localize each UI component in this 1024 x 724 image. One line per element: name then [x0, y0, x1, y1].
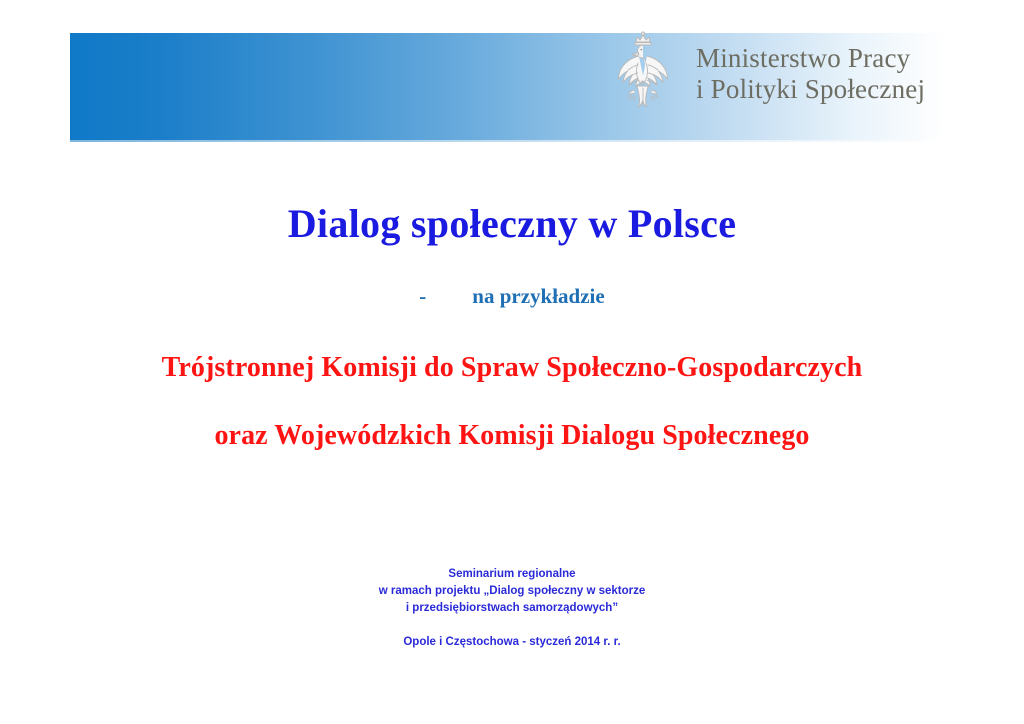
- slide-body: Dialog społeczny w Polsce -na przykładzi…: [0, 0, 1024, 724]
- subtitle-text: na przykładzie: [472, 284, 604, 308]
- footer-line-seminar: Seminarium regionalne: [0, 566, 1024, 583]
- footer-line-location-date: Opole i Częstochowa - styczeń 2014 r. r.: [0, 634, 1024, 651]
- slide-footer: Seminarium regionalne w ramach projektu …: [0, 566, 1024, 651]
- slide-title: Dialog społeczny w Polsce: [0, 200, 1024, 247]
- footer-spacer: [0, 617, 1024, 634]
- subtitle-dash: -: [419, 284, 426, 309]
- footer-line-project-2: i przedsiębiorstwach samorządowych”: [0, 600, 1024, 617]
- slide-heading-voivodeship: oraz Wojewódzkich Komisji Dialogu Społec…: [0, 420, 1024, 452]
- footer-line-project-1: w ramach projektu „Dialog społeczny w se…: [0, 583, 1024, 600]
- slide-subtitle: -na przykładzie: [0, 284, 1024, 309]
- slide-heading-commission: Trójstronnej Komisji do Spraw Społeczno-…: [0, 352, 1024, 384]
